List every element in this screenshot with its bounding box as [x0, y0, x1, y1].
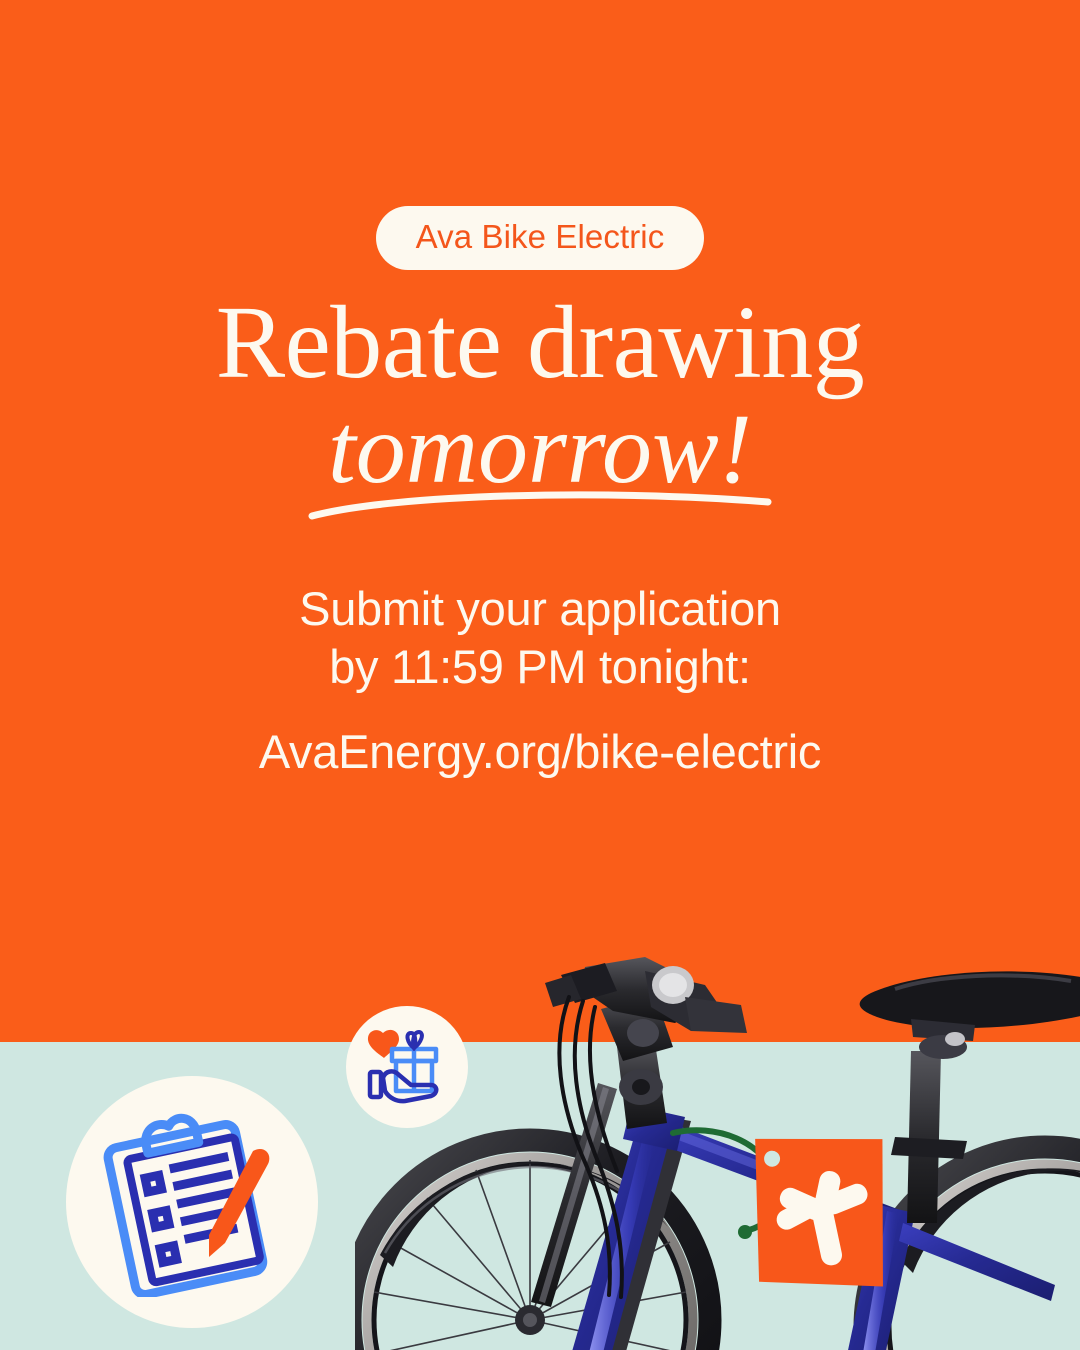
subcopy: Submit your application by 11:59 PM toni…	[0, 580, 1080, 697]
subcopy-line-2: by 11:59 PM tonight:	[0, 638, 1080, 696]
price-tag-with-logo	[744, 1122, 904, 1302]
heart-icon	[368, 1030, 399, 1058]
hand-icon	[370, 1071, 436, 1101]
hand-holding-gift-icon	[361, 1021, 453, 1113]
subcopy-line-1: Submit your application	[0, 580, 1080, 638]
clipboard-icon-badge	[66, 1076, 318, 1328]
electric-bike-illustration	[355, 955, 1080, 1350]
headline-line-2: tomorrow!	[0, 400, 1080, 498]
brand-badge-wrap: Ava Bike Electric	[0, 206, 1080, 270]
gift-icon-badge	[346, 1006, 468, 1128]
bow-icon	[407, 1032, 421, 1048]
clipboard-checklist-icon	[97, 1107, 287, 1297]
application-url[interactable]: AvaEnergy.org/bike-electric	[0, 724, 1080, 779]
poster-canvas: Ava Bike Electric Rebate drawing tomorro…	[0, 0, 1080, 1350]
headline-line-1: Rebate drawing	[0, 292, 1080, 394]
brand-badge[interactable]: Ava Bike Electric	[376, 206, 705, 270]
page-title: Rebate drawing tomorrow!	[0, 292, 1080, 498]
